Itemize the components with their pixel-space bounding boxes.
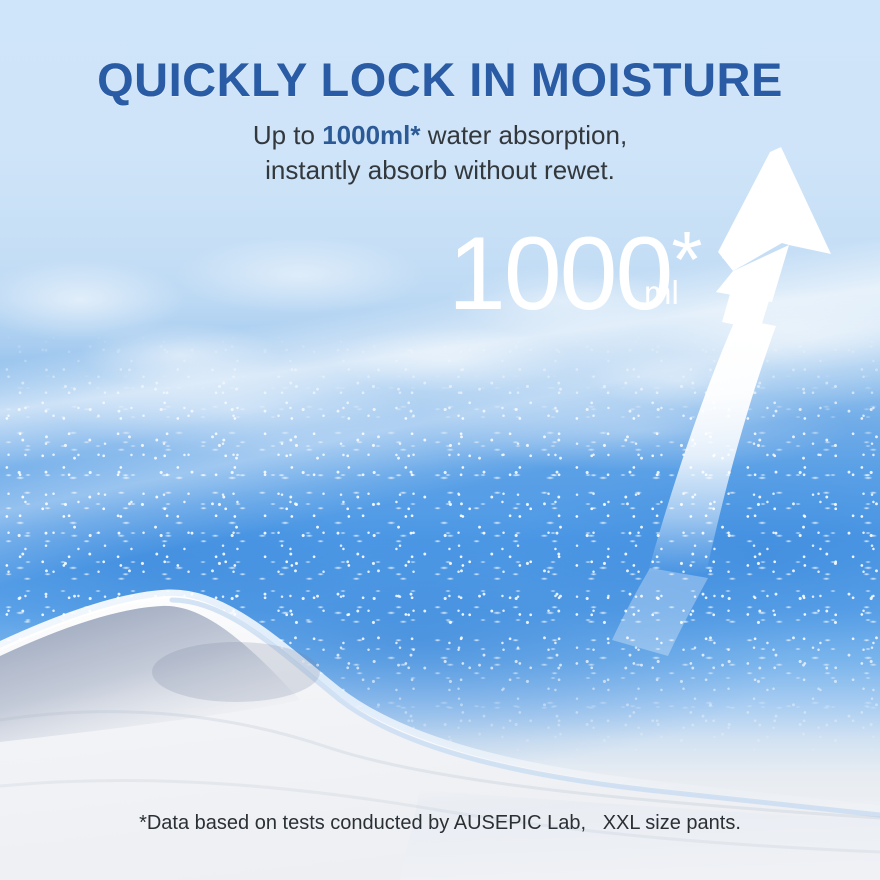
capacity-value: 1000 [448,216,671,332]
promo-poster: QUICKLY LOCK IN MOISTURE Up to 1000ml* w… [0,0,880,880]
subtitle-line-2: instantly absorb without rewet. [0,153,880,188]
capacity-unit: ml [644,276,679,309]
footnote-disclaimer: *Data based on tests conducted by AUSEPI… [0,812,880,835]
subtitle-line-1: Up to 1000ml* water absorption, [0,118,880,153]
capacity-callout: 1000*ml [448,208,703,326]
subtitle-highlight: 1000ml* [322,120,420,150]
subtitle: Up to 1000ml* water absorption, instantl… [0,118,880,188]
page-title: QUICKLY LOCK IN MOISTURE [0,52,880,107]
subtitle-tail: water absorption, [421,120,628,150]
subtitle-lead: Up to [253,120,322,150]
